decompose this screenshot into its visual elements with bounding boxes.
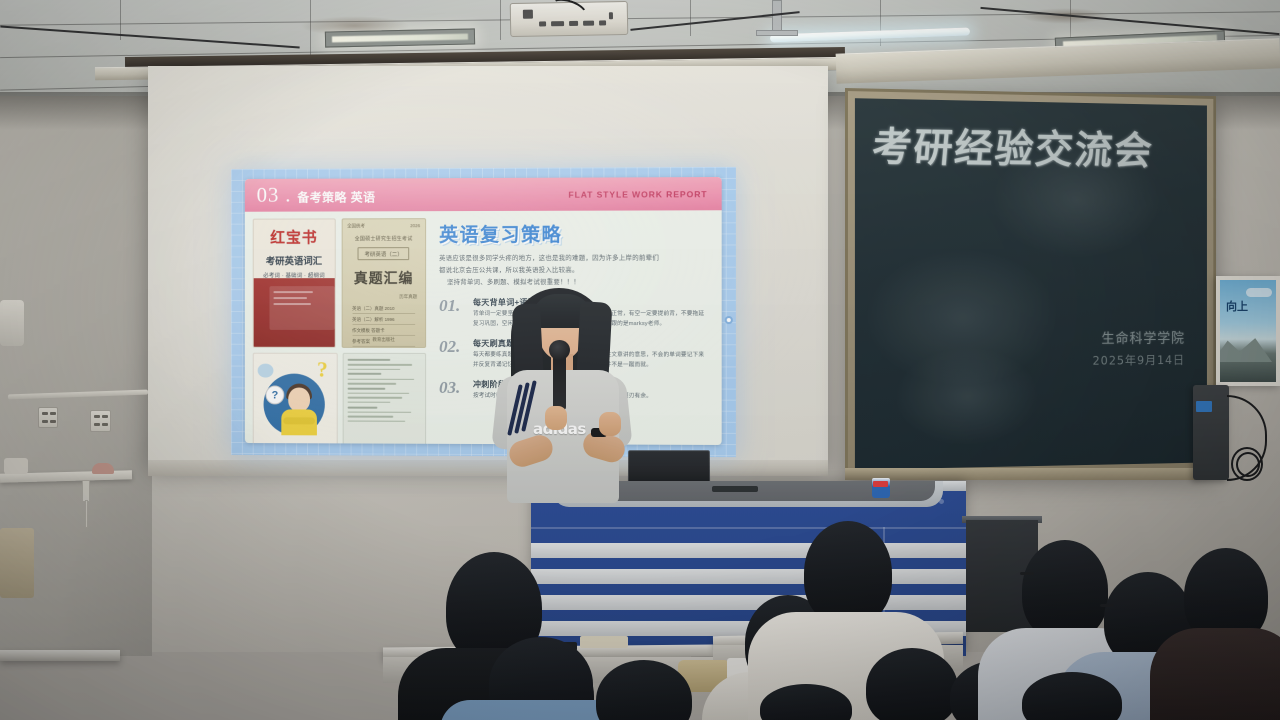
blackboard-headline: 考研经验交流会 (870, 115, 1189, 177)
book-paper-chip: 考研英语（二） (358, 247, 410, 260)
blackboard-subline-date: 2025年9月14日 (1093, 351, 1185, 368)
notebook-on-desk[interactable] (580, 636, 628, 648)
blackboard-frame: 考研经验交流会 生命科学学院 2025年9月14日 (845, 88, 1216, 480)
blackboard-chalk-tray (845, 468, 1225, 480)
book-cover-past-papers: 全国统考 2026 全国硕士研究生招生考试 考研英语（二） 真题汇编 历年真题 … (341, 218, 426, 348)
classroom-scene: 03 . 备考策略 英语 FLAT STYLE WORK REPORT 红宝书 … (0, 0, 1280, 720)
slide-lower-images-row: ? ? (253, 353, 426, 445)
power-outlet (90, 410, 111, 432)
slide-intro-line: 坚持背单词、多刷题、模拟考试很重要！！！ (439, 276, 709, 288)
microphone-head-icon (549, 340, 570, 360)
speaker-label (1196, 401, 1212, 412)
cartoon-illustration: ? ? (253, 353, 338, 445)
book-paper-meta: 历年真题 (342, 294, 425, 300)
slide-body: 红宝书 考研英语词汇 必考词 · 基础词 · 超纲词 (245, 210, 722, 445)
slide-header-left: 03 . 备考策略 英语 (257, 182, 376, 207)
book-red-band (254, 279, 335, 348)
poster-cloud (1246, 288, 1272, 297)
book-red-lines (273, 291, 313, 309)
slide-section-title: 备考策略 英语 (297, 188, 375, 205)
book-red-subtitle: 考研英语词汇 (254, 253, 335, 267)
slide-header-right-label: FLAT STYLE WORK REPORT (568, 189, 707, 200)
framed-poster: 向上 (1216, 276, 1280, 386)
shelf-object-left (4, 458, 28, 474)
book-paper-row: 英语（二）真题 2010 (352, 306, 415, 314)
left-wall-cabinet (0, 528, 34, 598)
projector-mount-plate (756, 30, 798, 36)
power-outlet (38, 407, 58, 428)
water-cup-label (873, 481, 888, 487)
book-paper-row: 作文模板 答题卡 (352, 328, 415, 336)
handwritten-notes-image (343, 353, 426, 445)
book-images-row: 红宝书 考研英语词汇 必考词 · 基础词 · 超纲词 (253, 218, 426, 348)
poster-mountains (1216, 336, 1272, 362)
cartoon-question-mark-large: ? (317, 357, 328, 383)
slide-intro-paragraph: 英语应该是很多同学头疼的地方，这也是我的难题，因为许多上岸的前辈们 都说北京会压… (439, 253, 709, 289)
presenter-speaker: adidas (487, 288, 637, 503)
book-paper-line1: 全国硕士研究生招生考试 (342, 235, 425, 242)
poster-text: 向上 (1226, 298, 1248, 314)
audience-head (1022, 540, 1108, 640)
book-paper-title: 真题汇编 (342, 268, 425, 288)
slide-item-number: 01. (439, 297, 467, 330)
slide-item-number: 03. (439, 379, 467, 402)
presentation-slide: 03 . 备考策略 英语 FLAT STYLE WORK REPORT 红宝书 … (231, 167, 736, 457)
book-paper-top-left: 全国统考 (347, 223, 365, 229)
audience-shoulders (1150, 628, 1280, 720)
presenter-hand-right (599, 412, 621, 436)
book-paper-top-right: 2026 (410, 223, 420, 229)
glasses-arm (1020, 572, 1034, 575)
cartoon-head (288, 388, 310, 412)
slide-item-number: 02. (439, 338, 467, 371)
slide-left-column: 红宝书 考研英语词汇 必考词 · 基础词 · 超纲词 (245, 211, 431, 444)
podium-desk-item (712, 486, 758, 492)
slide-main-title: 英语复习策略 (439, 219, 709, 247)
slide-intro-line: 都说北京会压公共课，所以我英语投入比较高。 (439, 265, 709, 277)
book-paper-publisher: 教育出版社 (342, 337, 425, 343)
wall-shelf-bracket (82, 480, 90, 502)
glasses-arm (1100, 604, 1114, 607)
book-paper-row: 英语（二）解析 1996 (352, 317, 415, 325)
blackboard: 考研经验交流会 生命科学学院 2025年9月14日 (855, 98, 1207, 470)
recessed-troffer-left (325, 28, 475, 47)
blackboard-subline-department: 生命科学学院 (1101, 328, 1184, 348)
book-red-title: 红宝书 (254, 226, 335, 247)
speaker-cable-coil-inner (1236, 452, 1260, 477)
shelf-object-right (92, 463, 114, 474)
book-paper-top-row: 全国统考 2026 (342, 219, 425, 229)
slide-section-dot: . (285, 183, 291, 208)
audience-head (866, 648, 958, 720)
cartoon-blob (258, 364, 274, 378)
wall-speaker (1193, 385, 1229, 480)
slide-edge-dot-icon (725, 316, 733, 324)
student-desk-row-far-left (0, 650, 120, 661)
slide-intro-line: 英语应该是很多同学头疼的地方，这也是我的难题，因为许多上岸的前辈们 (439, 253, 709, 265)
cartoon-arm (283, 417, 315, 424)
presenter-hand-left (545, 406, 567, 430)
cartoon-speech-bubble: ? (266, 386, 285, 405)
slide-section-number: 03 (257, 183, 280, 208)
wall-mounted-fixture (0, 300, 24, 346)
slide-header-bar: 03 . 备考策略 英语 FLAT STYLE WORK REPORT (245, 177, 722, 212)
projector-mount (772, 0, 782, 34)
wall-shelf-rod (85, 500, 88, 528)
book-red-tagline: 必考词 · 基础词 · 超纲词 (254, 271, 335, 279)
book-cover-red-vocabulary: 红宝书 考研英语词汇 必考词 · 基础词 · 超纲词 (253, 218, 336, 347)
slide-content-card: 03 . 备考策略 英语 FLAT STYLE WORK REPORT 红宝书 … (245, 177, 722, 445)
audience-head (804, 521, 892, 625)
